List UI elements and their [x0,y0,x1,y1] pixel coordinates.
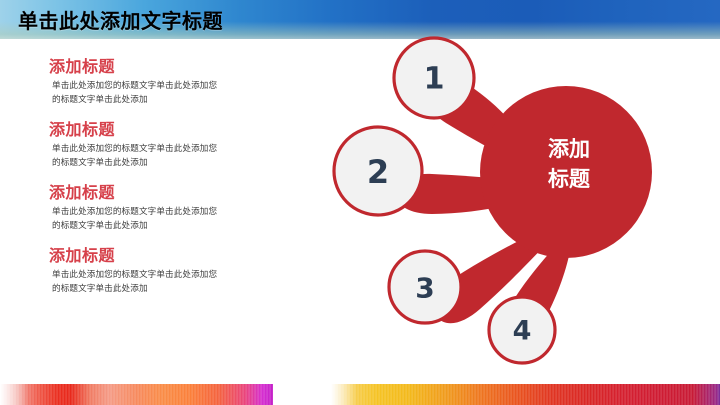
node-3-label: 3 [415,272,434,305]
text-block: 添加标题 单击此处添加您的标题文字单击此处添加您的标题文字单击此处添加 [47,247,247,296]
block-body: 单击此处添加您的标题文字单击此处添加您的标题文字单击此处添加 [47,269,219,296]
block-heading: 添加标题 [47,247,247,265]
block-heading: 添加标题 [47,184,247,202]
text-block: 添加标题 单击此处添加您的标题文字单击此处添加您的标题文字单击此处添加 [47,121,247,170]
text-block: 添加标题 单击此处添加您的标题文字单击此处添加您的标题文字单击此处添加 [47,184,247,233]
block-heading: 添加标题 [47,121,247,139]
node-1-label: 1 [424,62,445,97]
bottom-strip-right [331,384,720,405]
text-block: 添加标题 单击此处添加您的标题文字单击此处添加您的标题文字单击此处添加 [47,58,247,107]
node-2-label: 2 [367,153,389,191]
block-body: 单击此处添加您的标题文字单击此处添加您的标题文字单击此处添加 [47,80,219,107]
node-1[interactable]: 1 [394,38,474,118]
center-label-line2: 标题 [548,167,591,191]
node-2[interactable]: 2 [334,127,422,215]
node-3[interactable]: 3 [389,251,461,323]
node-4[interactable]: 4 [489,297,555,363]
block-body: 单击此处添加您的标题文字单击此处添加您的标题文字单击此处添加 [47,206,219,233]
page-title: 单击此处添加文字标题 [18,11,223,31]
center-label-line1: 添加 [548,137,590,161]
blob-diagram: 1 2 3 4 添加 标题 [320,28,660,378]
text-column: 添加标题 单击此处添加您的标题文字单击此处添加您的标题文字单击此处添加 添加标题… [47,58,247,310]
bottom-strip-left [0,384,273,405]
node-4-label: 4 [513,316,532,347]
block-heading: 添加标题 [47,58,247,76]
block-body: 单击此处添加您的标题文字单击此处添加您的标题文字单击此处添加 [47,143,219,170]
